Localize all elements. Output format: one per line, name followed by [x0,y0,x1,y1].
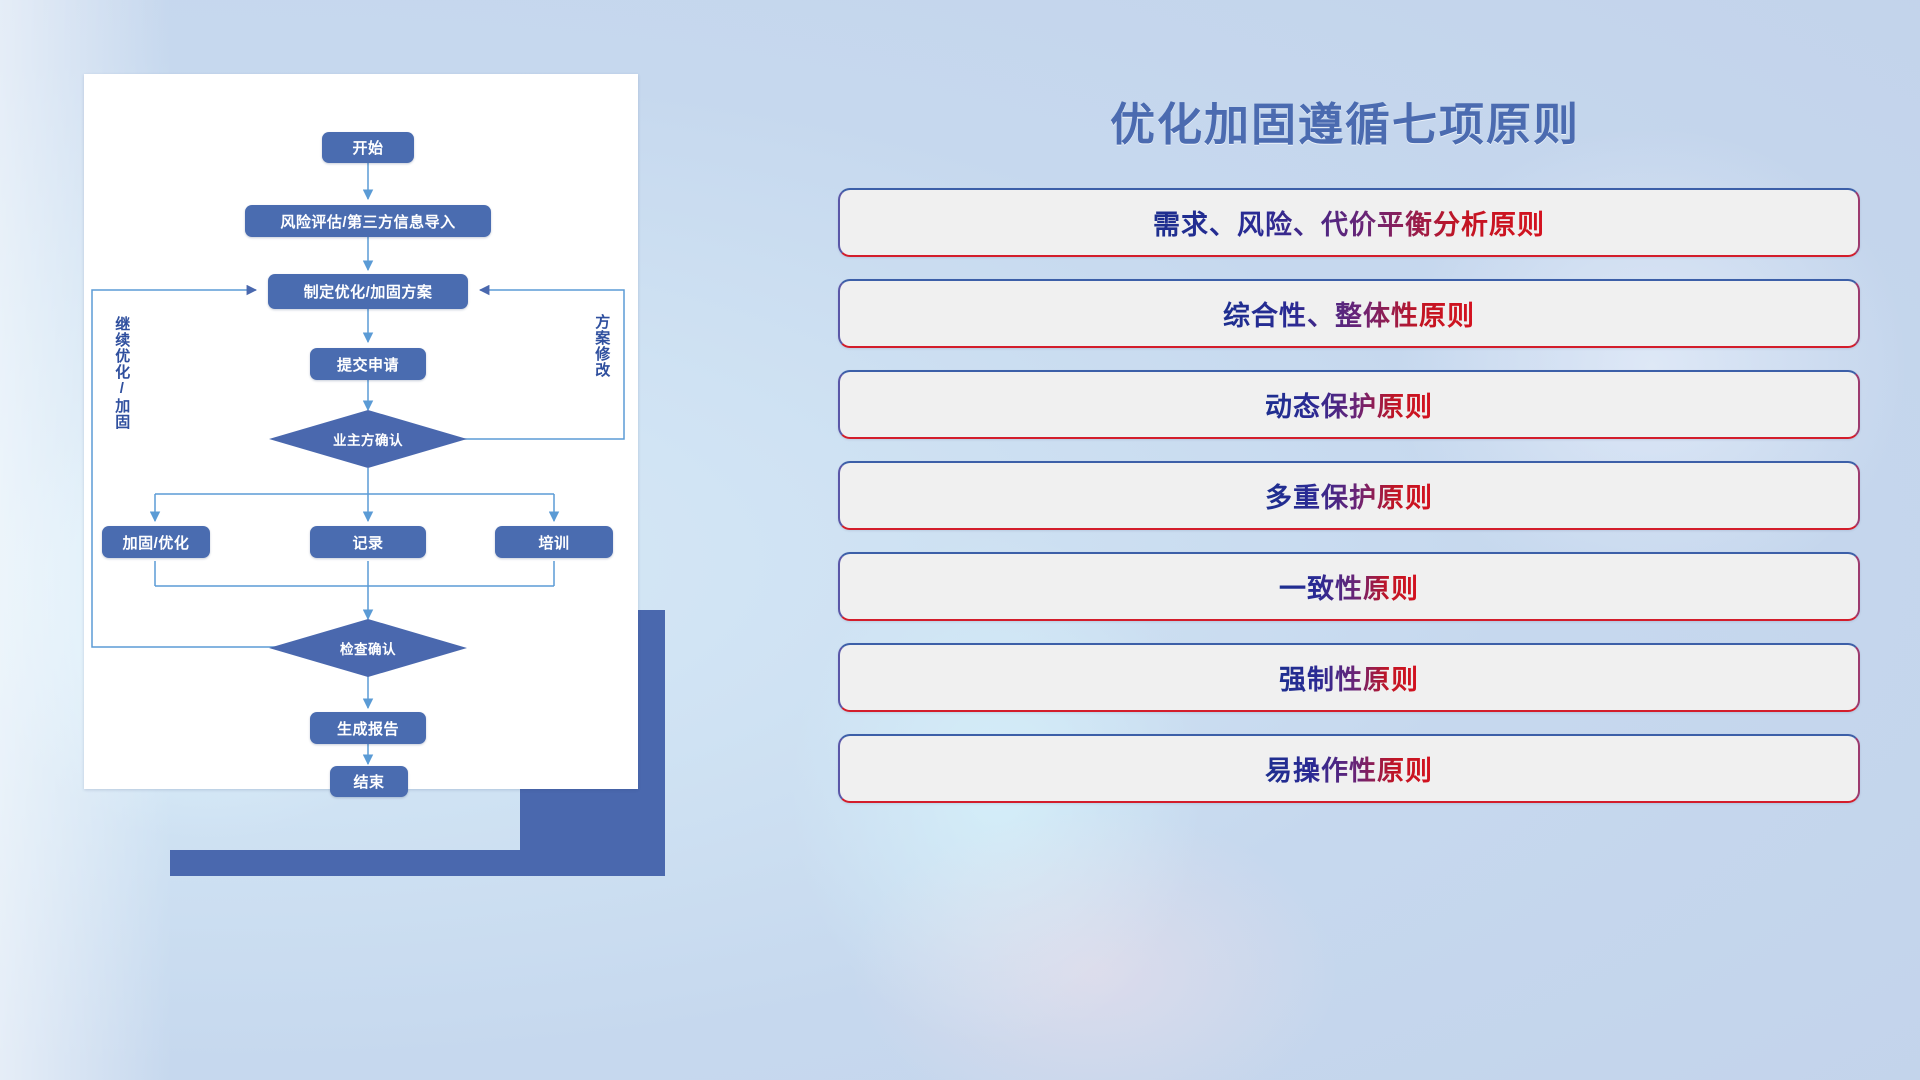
principle-item[interactable]: 动态保护原则 [838,370,1860,439]
flow-node-record-label: 记录 [352,532,383,553]
flow-node-training[interactable]: 培训 [495,526,613,558]
flow-node-submit-label: 提交申请 [337,354,399,375]
principle-label: 动态保护原则 [1265,385,1433,424]
flow-node-record[interactable]: 记录 [310,526,426,558]
principle-item[interactable]: 一致性原则 [838,552,1860,621]
principle-label: 多重保护原则 [1265,476,1433,515]
principle-item[interactable]: 易操作性原则 [838,734,1860,803]
panel-title: 优化加固遵循七项原则 [830,88,1860,153]
flow-node-plan[interactable]: 制定优化/加固方案 [268,274,468,309]
principles-list: 需求、风险、代价平衡分析原则 综合性、整体性原则 动态保护原则 多重保护原则 一… [838,188,1860,825]
flow-node-check-confirm[interactable]: 检查确认 [269,619,467,677]
flow-node-report[interactable]: 生成报告 [310,712,426,744]
flow-node-end[interactable]: 结束 [330,766,408,797]
flow-node-check-confirm-label: 检查确认 [340,638,396,658]
flow-node-reinforce-label: 加固/优化 [123,532,190,553]
principle-label: 需求、风险、代价平衡分析原则 [1153,203,1545,242]
flow-node-start[interactable]: 开始 [322,132,414,163]
flow-node-report-label: 生成报告 [337,718,399,739]
flow-node-owner-confirm[interactable]: 业主方确认 [269,410,467,468]
principle-label: 一致性原则 [1279,567,1419,606]
flow-node-owner-confirm-label: 业主方确认 [333,429,403,449]
principle-label: 强制性原则 [1279,658,1419,697]
flow-edge-label-plan-revision: 方案修改 [594,314,609,406]
principles-panel: 优化加固遵循七项原则 需求、风险、代价平衡分析原则 综合性、整体性原则 动态保护… [830,70,1860,1030]
flow-node-risk-assessment[interactable]: 风险评估/第三方信息导入 [245,205,491,237]
flow-node-training-label: 培训 [538,532,569,553]
principle-label: 易操作性原则 [1265,749,1433,788]
flow-node-submit[interactable]: 提交申请 [310,348,426,380]
flowchart-card: 开始 风险评估/第三方信息导入 制定优化/加固方案 提交申请 业主方确认 加固/… [84,74,638,789]
principle-item[interactable]: 综合性、整体性原则 [838,279,1860,348]
principle-item[interactable]: 多重保护原则 [838,461,1860,530]
flow-edge-label-continue-optimize: 继续优化/加固 [114,316,129,446]
flow-node-plan-label: 制定优化/加固方案 [304,281,433,302]
flow-node-start-label: 开始 [352,137,383,158]
flow-node-risk-assessment-label: 风险评估/第三方信息导入 [280,211,455,232]
principle-label: 综合性、整体性原则 [1223,294,1475,333]
flow-node-reinforce[interactable]: 加固/优化 [102,526,210,558]
principle-item[interactable]: 需求、风险、代价平衡分析原则 [838,188,1860,257]
flowchart-panel: 开始 风险评估/第三方信息导入 制定优化/加固方案 提交申请 业主方确认 加固/… [84,74,664,804]
principle-item[interactable]: 强制性原则 [838,643,1860,712]
flow-node-end-label: 结束 [353,771,384,792]
